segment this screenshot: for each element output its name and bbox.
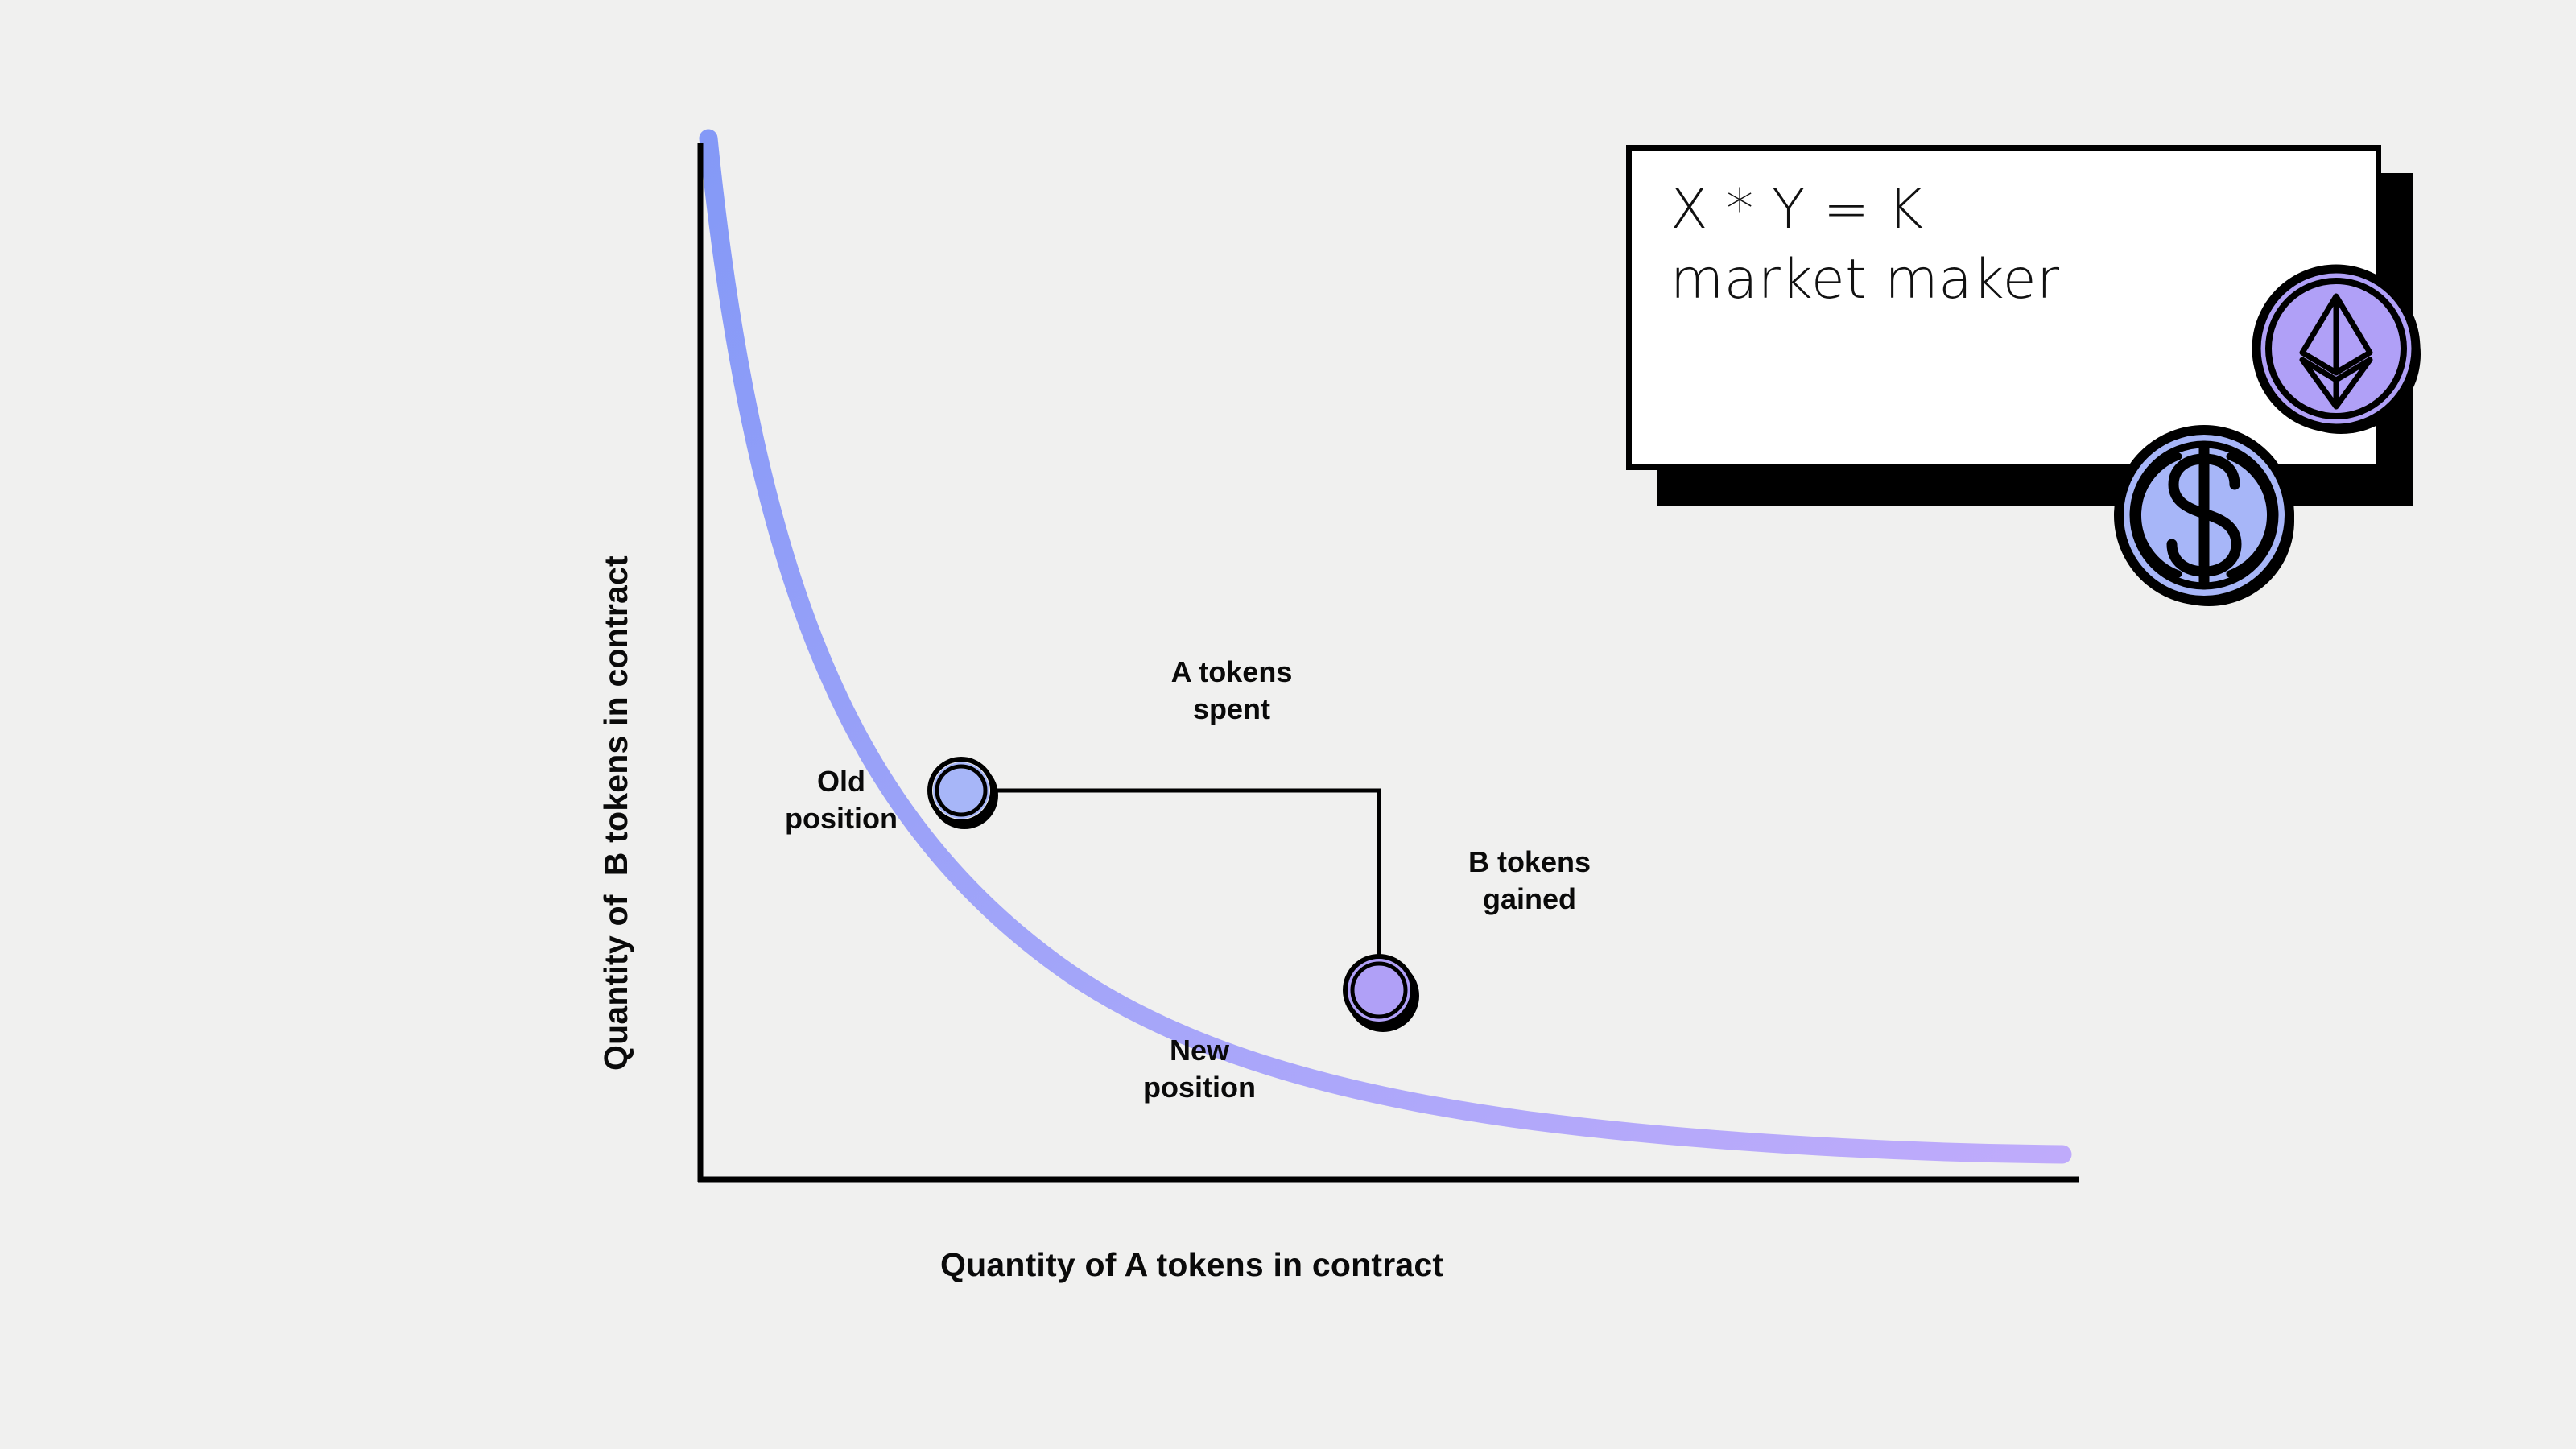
new-position-marker[interactable] [1343, 954, 1419, 1032]
new-position-label: New position [1119, 1032, 1280, 1106]
market-maker-card-text: X * Y = K market maker [1670, 175, 2060, 315]
old-position-label: Old position [765, 763, 918, 837]
b-tokens-gained-label: B tokens gained [1437, 844, 1622, 918]
ethereum-coin [2246, 258, 2431, 443]
diagram-canvas: Quantity of B tokens in contract Quantit… [0, 0, 2576, 1449]
old-position-marker[interactable] [927, 757, 998, 829]
x-axis-title: Quantity of A tokens in contract [940, 1246, 1443, 1284]
a-tokens-spent-label: A tokens spent [1139, 654, 1324, 728]
y-axis-title: Quantity of B tokens in contract [597, 555, 635, 1071]
dollar-coin [2109, 419, 2310, 620]
